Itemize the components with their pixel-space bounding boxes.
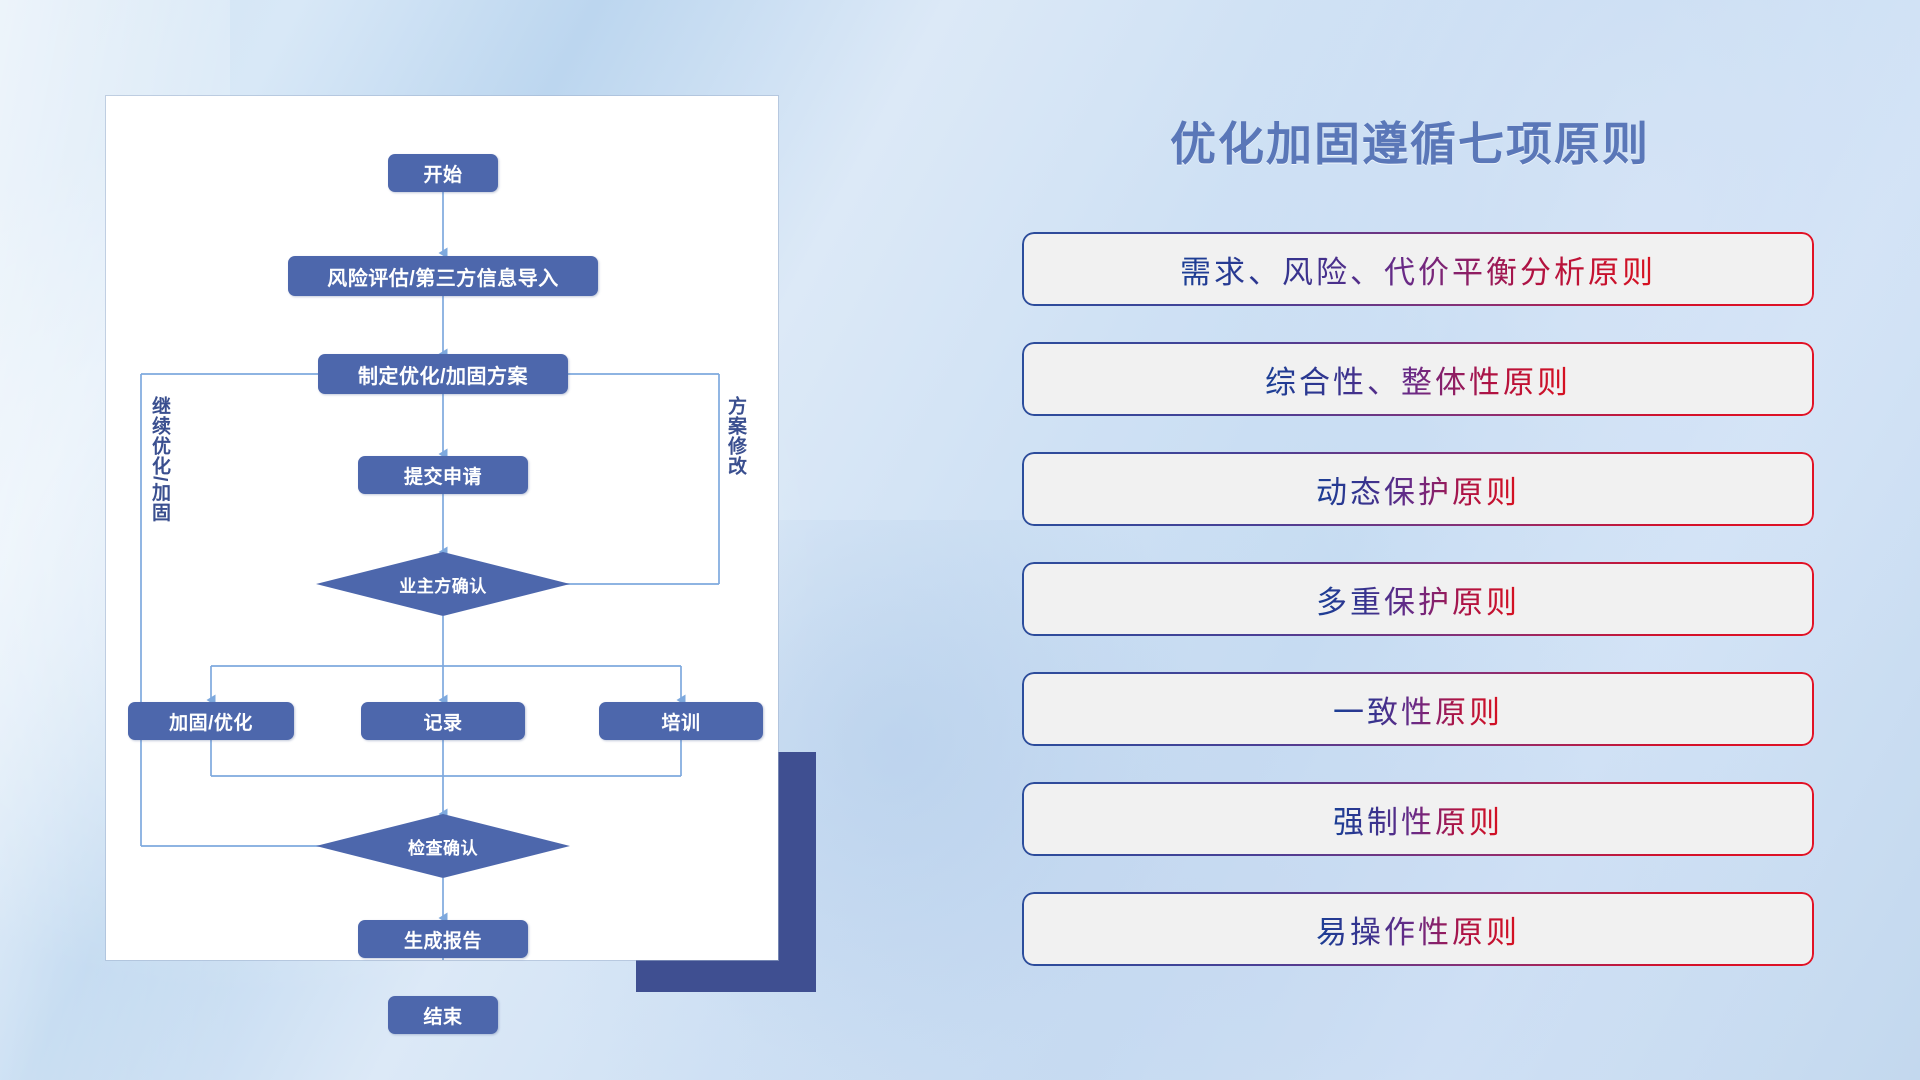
principle-card[interactable]: 需求、风险、代价平衡分析原则 bbox=[1022, 232, 1814, 306]
flow-node-start[interactable]: 开始 bbox=[388, 154, 498, 192]
flow-node-record[interactable]: 记录 bbox=[361, 702, 525, 740]
principle-label: 一致性原则 bbox=[1333, 687, 1503, 732]
principles-title: 优化加固遵循七项原则 bbox=[1030, 108, 1790, 174]
edge-label-continue-optimize: 继续优化/加固 bbox=[150, 396, 169, 586]
flow-node-training[interactable]: 培训 bbox=[599, 702, 763, 740]
principle-card[interactable]: 强制性原则 bbox=[1022, 782, 1814, 856]
flow-node-label: 开始 bbox=[423, 160, 462, 187]
flow-node-generate-report[interactable]: 生成报告 bbox=[358, 920, 528, 958]
slide-canvas: 开始 风险评估/第三方信息导入 制定优化/加固方案 提交申请 业主方确认 加固/… bbox=[0, 0, 1920, 1080]
flow-node-label: 加固/优化 bbox=[169, 708, 253, 735]
flow-node-label: 业主方确认 bbox=[399, 572, 487, 597]
principle-card[interactable]: 动态保护原则 bbox=[1022, 452, 1814, 526]
principle-label: 多重保护原则 bbox=[1316, 577, 1520, 622]
principle-card[interactable]: 易操作性原则 bbox=[1022, 892, 1814, 966]
principle-label: 动态保护原则 bbox=[1316, 467, 1520, 512]
flow-node-plan[interactable]: 制定优化/加固方案 bbox=[318, 354, 568, 394]
principle-label: 需求、风险、代价平衡分析原则 bbox=[1180, 247, 1656, 292]
flow-node-label: 培训 bbox=[661, 708, 700, 735]
flow-node-label: 提交申请 bbox=[404, 462, 482, 489]
flowchart: 开始 风险评估/第三方信息导入 制定优化/加固方案 提交申请 业主方确认 加固/… bbox=[106, 96, 778, 960]
principle-label: 强制性原则 bbox=[1333, 797, 1503, 842]
flow-node-label: 记录 bbox=[423, 708, 462, 735]
principle-label: 综合性、整体性原则 bbox=[1265, 357, 1571, 402]
principle-label: 易操作性原则 bbox=[1316, 907, 1520, 952]
flow-node-risk-assessment[interactable]: 风险评估/第三方信息导入 bbox=[288, 256, 598, 296]
flow-node-label: 结束 bbox=[423, 1002, 462, 1029]
flow-node-label: 生成报告 bbox=[404, 926, 482, 953]
flow-node-end[interactable]: 结束 bbox=[388, 996, 498, 1034]
principle-card[interactable]: 综合性、整体性原则 bbox=[1022, 342, 1814, 416]
principles-list: 需求、风险、代价平衡分析原则 综合性、整体性原则 动态保护原则 多重保护原则 一… bbox=[1022, 232, 1814, 1002]
principle-card[interactable]: 一致性原则 bbox=[1022, 672, 1814, 746]
flow-node-reinforce-optimize[interactable]: 加固/优化 bbox=[128, 702, 294, 740]
flow-node-inspect-confirm[interactable]: 检查确认 bbox=[316, 814, 570, 878]
principle-card[interactable]: 多重保护原则 bbox=[1022, 562, 1814, 636]
flowchart-card: 开始 风险评估/第三方信息导入 制定优化/加固方案 提交申请 业主方确认 加固/… bbox=[106, 96, 778, 960]
edge-label-plan-revision: 方案修改 bbox=[726, 396, 745, 526]
flow-node-label: 检查确认 bbox=[408, 834, 478, 859]
flow-node-owner-confirm[interactable]: 业主方确认 bbox=[316, 552, 570, 616]
flow-node-submit-application[interactable]: 提交申请 bbox=[358, 456, 528, 494]
flow-node-label: 风险评估/第三方信息导入 bbox=[327, 262, 559, 291]
flow-node-label: 制定优化/加固方案 bbox=[358, 360, 528, 389]
